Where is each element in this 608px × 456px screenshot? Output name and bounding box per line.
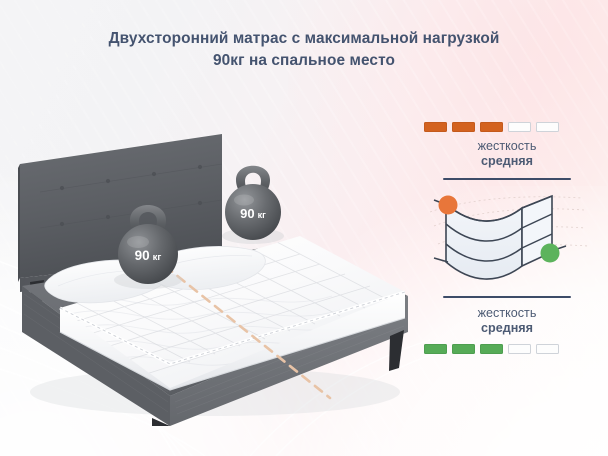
bed-with-mattress: 90кг 90кг — [0, 96, 420, 426]
firmness-panel-top: жесткость средняя — [424, 122, 590, 290]
firmness-pip-filled-3 — [480, 122, 503, 132]
firmness-word-value-top: средняя — [424, 154, 590, 169]
firmness-pip-green-filled-2 — [452, 344, 475, 354]
firmness-word-hardness-top: жесткость — [424, 139, 590, 154]
bed-scene: 90кг 90кг — [0, 96, 420, 426]
firmness-pip-green-filled-1 — [424, 344, 447, 354]
firmness-panel-bottom: жесткость средняя — [424, 296, 590, 354]
firmness-word-hardness-bottom: жесткость — [424, 306, 590, 321]
weight-kettlebell-right: 90кг — [222, 166, 284, 244]
layer-marker-bottom-green — [541, 244, 560, 263]
layer-marker-top-orange — [439, 196, 458, 215]
firmness-label-bottom: жесткость средняя — [424, 306, 590, 336]
panel-divider-bottom — [443, 296, 571, 298]
mattress-layers-diagram — [424, 186, 590, 290]
firmness-pip-green-empty-4 — [508, 344, 531, 354]
firmness-label-top: жесткость средняя — [424, 139, 590, 169]
firmness-indicator-side-a — [424, 122, 590, 132]
firmness-pip-green-filled-3 — [480, 344, 503, 354]
page-title-line2: 90кг на спальное место — [0, 50, 608, 72]
firmness-pip-filled-2 — [452, 122, 475, 132]
firmness-pip-empty-4 — [508, 122, 531, 132]
firmness-pip-filled-1 — [424, 122, 447, 132]
firmness-pip-green-empty-5 — [536, 344, 559, 354]
page-title-line1: Двухсторонний матрас с максимальной нагр… — [109, 30, 500, 47]
panel-divider-top — [443, 178, 571, 180]
firmness-word-value-bottom: средняя — [424, 321, 590, 336]
firmness-pip-empty-5 — [536, 122, 559, 132]
page-title: Двухсторонний матрас с максимальной нагр… — [0, 28, 608, 71]
firmness-indicator-side-b — [424, 344, 590, 354]
mattress-layers-svg — [424, 186, 590, 290]
infographic-canvas: Двухсторонний матрас с максимальной нагр… — [0, 0, 608, 456]
